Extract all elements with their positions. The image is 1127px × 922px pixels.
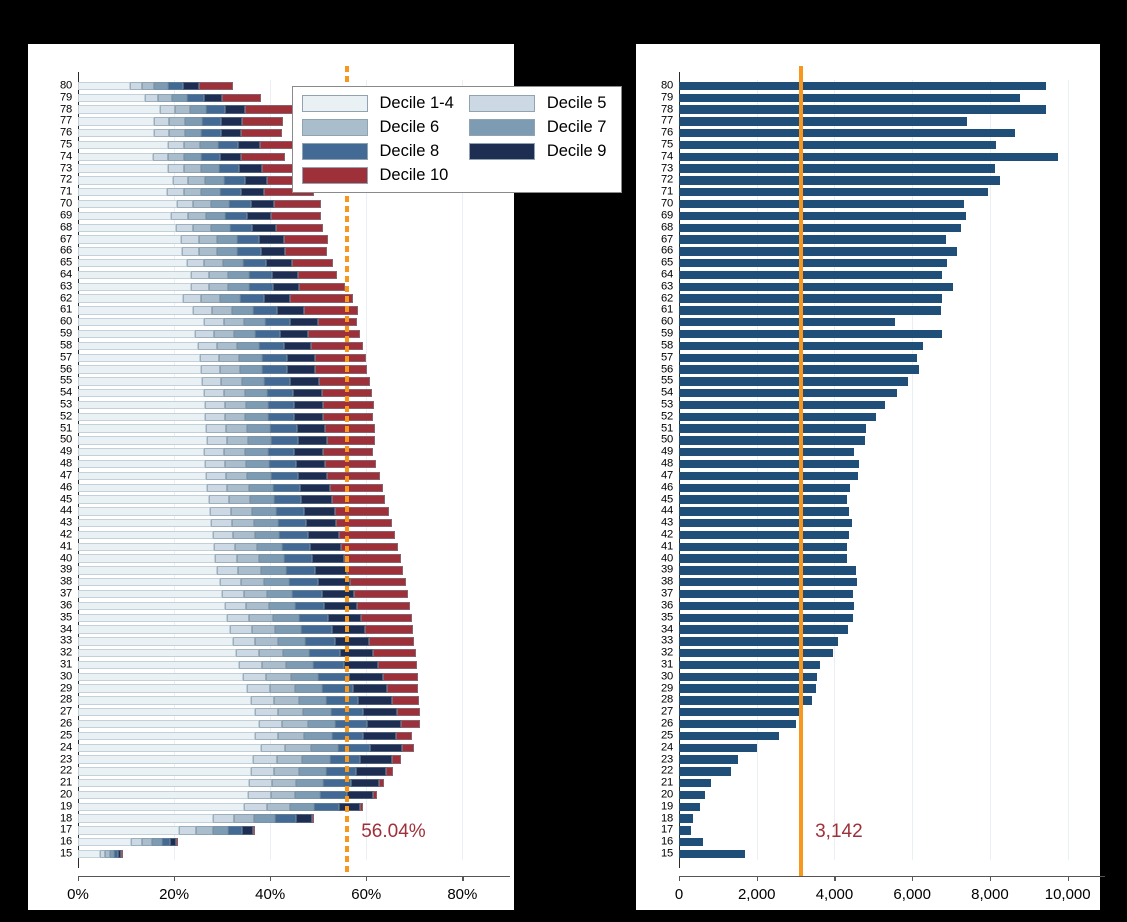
bar-segment — [297, 424, 326, 432]
y-axis-tick-label: 61 — [643, 305, 673, 316]
bar-segment — [78, 767, 251, 775]
bar-segment — [299, 283, 345, 291]
y-axis-tick-label: 63 — [643, 281, 673, 292]
bar-segment — [301, 495, 331, 503]
bar-segment — [206, 105, 225, 113]
bar-segment — [396, 732, 411, 740]
stacked-bar-row — [78, 732, 412, 740]
bar-segment — [229, 200, 251, 208]
bar-segment — [219, 354, 239, 362]
count-bar — [679, 141, 996, 149]
stacked-bar-row — [78, 200, 321, 208]
bar-segment — [326, 696, 357, 704]
x-axis-tick-label: 0 — [675, 886, 683, 903]
y-axis-tick-label: 43 — [643, 518, 673, 529]
y-axis-tick-label: 58 — [42, 340, 72, 351]
bar-segment — [356, 767, 386, 775]
bar-segment — [188, 176, 205, 184]
stacked-bar-row — [78, 826, 255, 834]
right-chart-panel: 02,0004,0006,0008,00010,0008079787776757… — [636, 44, 1100, 910]
bar-segment — [278, 637, 304, 645]
y-axis-tick-label: 18 — [42, 813, 72, 824]
bar-segment — [402, 744, 414, 752]
y-axis-tick-label: 64 — [643, 269, 673, 280]
bar-segment — [269, 460, 296, 468]
bar-segment — [202, 377, 221, 385]
bar-segment — [254, 814, 275, 822]
bar-segment — [183, 82, 199, 90]
x-axis-tick-label: 0% — [67, 886, 89, 903]
y-axis-tick-label: 20 — [643, 789, 673, 800]
x-axis-tick-label: 60% — [351, 886, 381, 903]
bar-segment — [207, 484, 227, 492]
bar-segment — [78, 164, 168, 172]
legend-swatch — [302, 143, 368, 160]
y-axis-tick-label: 23 — [643, 754, 673, 765]
bar-segment — [240, 365, 262, 373]
bar-segment — [392, 696, 419, 704]
stacked-bar-row — [78, 625, 413, 633]
bar-segment — [154, 117, 169, 125]
bar-segment — [255, 531, 279, 539]
bar-segment — [212, 306, 232, 314]
y-axis-tick-label: 47 — [42, 470, 72, 481]
bar-segment — [365, 625, 414, 633]
y-axis-tick-label: 48 — [643, 458, 673, 469]
count-bar — [679, 495, 847, 503]
bar-segment — [360, 755, 391, 763]
bar-segment — [78, 448, 204, 456]
stacked-bar-row — [78, 235, 328, 243]
bar-segment — [221, 129, 242, 137]
bar-segment — [285, 744, 310, 752]
bar-segment — [273, 283, 299, 291]
bar-segment — [271, 436, 297, 444]
bar-segment — [259, 554, 284, 562]
count-bar — [679, 413, 876, 421]
bar-segment — [78, 543, 214, 551]
bar-segment — [251, 696, 274, 704]
bar-segment — [286, 566, 315, 574]
y-axis-tick-label: 59 — [643, 328, 673, 339]
bar-segment — [158, 94, 172, 102]
bar-segment — [261, 247, 286, 255]
y-axis-tick-label: 56 — [42, 364, 72, 375]
bar-segment — [249, 779, 272, 787]
y-axis-tick-label: 79 — [643, 92, 673, 103]
bar-segment — [274, 696, 299, 704]
bar-segment — [282, 720, 307, 728]
bar-segment — [253, 755, 277, 763]
y-axis-tick-label: 35 — [42, 612, 72, 623]
legend-swatch — [469, 95, 535, 112]
bar-segment — [78, 566, 217, 574]
bar-segment — [312, 814, 314, 822]
x-axis-tick-label: 6,000 — [893, 886, 931, 903]
bar-segment — [220, 188, 242, 196]
bar-segment — [296, 460, 325, 468]
y-axis-tick-label: 18 — [643, 813, 673, 824]
bar-segment — [262, 661, 286, 669]
bar-segment — [387, 684, 418, 692]
stacked-bar-row — [78, 153, 285, 161]
bar-segment — [271, 212, 320, 220]
bar-segment — [350, 578, 406, 586]
stacked-bar-row — [78, 283, 345, 291]
bar-segment — [211, 519, 232, 527]
count-bar — [679, 224, 961, 232]
count-bar — [679, 164, 995, 172]
y-axis-tick-label: 49 — [42, 447, 72, 458]
count-bar — [679, 755, 738, 763]
count-bar — [679, 259, 947, 267]
count-bar — [679, 578, 857, 586]
bar-segment — [232, 519, 254, 527]
legend-swatch — [302, 119, 368, 136]
bar-segment — [254, 519, 278, 527]
stacked-bar-row — [78, 484, 383, 492]
bar-segment — [241, 153, 285, 161]
count-bar — [679, 460, 859, 468]
y-axis-tick-label: 29 — [643, 683, 673, 694]
y-axis-tick-label: 19 — [643, 801, 673, 812]
reference-line-label: 56.04% — [361, 821, 425, 843]
bar-segment — [327, 472, 380, 480]
stacked-bar-row — [78, 401, 374, 409]
bar-segment — [160, 105, 174, 113]
bar-segment — [167, 188, 183, 196]
bar-segment — [214, 330, 234, 338]
bar-segment — [312, 554, 344, 562]
bar-segment — [205, 176, 223, 184]
y-axis-tick-label: 68 — [42, 222, 72, 233]
count-bar — [679, 814, 693, 822]
bar-segment — [327, 436, 376, 444]
y-axis-tick-label: 62 — [42, 293, 72, 304]
bar-segment — [152, 838, 162, 846]
bar-segment — [251, 767, 275, 775]
y-axis-tick-label: 45 — [42, 494, 72, 505]
bar-segment — [265, 318, 290, 326]
bar-segment — [222, 94, 261, 102]
y-axis-tick-label: 24 — [42, 742, 72, 753]
bar-segment — [295, 684, 322, 692]
y-axis-tick-label: 31 — [42, 659, 72, 670]
bar-segment — [279, 531, 307, 539]
y-axis-tick-label: 76 — [643, 128, 673, 139]
bar-segment — [347, 566, 403, 574]
x-axis-tick-label: 2,000 — [738, 886, 776, 903]
bar-segment — [363, 708, 397, 716]
y-axis-tick-label: 65 — [643, 258, 673, 269]
bar-segment — [292, 590, 321, 598]
bar-segment — [228, 826, 242, 834]
stacked-bar-row — [78, 306, 358, 314]
bar-segment — [249, 271, 273, 279]
stacked-bar-row — [78, 259, 333, 267]
bar-segment — [225, 602, 247, 610]
bar-segment — [168, 141, 183, 149]
bar-segment — [244, 803, 267, 811]
y-axis-tick-label: 17 — [643, 825, 673, 836]
y-axis-tick-label: 37 — [42, 588, 72, 599]
bar-segment — [269, 602, 294, 610]
y-axis-tick-label: 15 — [643, 848, 673, 859]
bar-segment — [249, 283, 273, 291]
bar-segment — [211, 224, 230, 232]
count-bar — [679, 803, 700, 811]
y-axis-tick-label: 15 — [42, 848, 72, 859]
bar-segment — [322, 590, 355, 598]
bar-segment — [247, 424, 270, 432]
stacked-bar-row — [78, 649, 416, 657]
bar-segment — [78, 519, 211, 527]
bar-segment — [201, 188, 220, 196]
bar-segment — [304, 732, 332, 740]
bar-segment — [298, 271, 337, 279]
stacked-bar-row — [78, 696, 419, 704]
bar-segment — [204, 389, 224, 397]
y-axis-tick-label: 75 — [42, 139, 72, 150]
y-axis-tick-label: 71 — [42, 187, 72, 198]
bar-segment — [308, 330, 361, 338]
count-bar — [679, 590, 853, 598]
bar-segment — [373, 791, 377, 799]
y-axis-tick-label: 27 — [643, 707, 673, 718]
stacked-bar-row — [78, 176, 317, 184]
y-axis-tick-label: 46 — [643, 482, 673, 493]
bar-segment — [330, 484, 383, 492]
bar-segment — [268, 448, 294, 456]
stacked-bar-row — [78, 330, 360, 338]
bar-segment — [275, 814, 296, 822]
bar-segment — [78, 436, 207, 444]
bar-segment — [218, 141, 238, 149]
bar-segment — [184, 188, 201, 196]
bar-segment — [318, 318, 357, 326]
y-axis-tick-label: 16 — [42, 837, 72, 848]
bar-segment — [379, 779, 384, 787]
y-axis-tick-label: 57 — [643, 352, 673, 363]
bar-segment — [78, 354, 200, 362]
bar-segment — [78, 424, 206, 432]
bar-segment — [227, 484, 249, 492]
bar-segment — [78, 129, 154, 137]
bar-segment — [78, 200, 177, 208]
bar-segment — [209, 283, 228, 291]
bar-segment — [220, 294, 241, 302]
y-axis-tick-label: 68 — [643, 222, 673, 233]
count-bar — [679, 744, 757, 752]
bar-segment — [201, 294, 220, 302]
bar-segment — [78, 661, 239, 669]
bar-segment — [176, 224, 193, 232]
y-axis-tick-label: 27 — [42, 707, 72, 718]
bar-segment — [234, 814, 255, 822]
y-axis-tick-label: 61 — [42, 305, 72, 316]
bar-segment — [360, 803, 363, 811]
y-axis-tick-label: 52 — [42, 411, 72, 422]
bar-segment — [283, 649, 309, 657]
count-bar — [679, 625, 848, 633]
reference-line-label: 3,142 — [815, 821, 863, 843]
bar-segment — [236, 649, 259, 657]
bar-segment — [298, 472, 328, 480]
bar-segment — [168, 82, 183, 90]
y-axis-tick-label: 53 — [643, 399, 673, 410]
y-axis-tick-label: 74 — [42, 151, 72, 162]
bar-segment — [313, 661, 344, 669]
bar-segment — [274, 200, 320, 208]
bar-segment — [78, 625, 230, 633]
bar-segment — [296, 779, 322, 787]
bar-segment — [237, 554, 260, 562]
bar-segment — [341, 543, 398, 551]
bar-segment — [274, 495, 301, 503]
bar-segment — [206, 424, 226, 432]
stacked-bar-row — [78, 247, 327, 255]
bar-segment — [276, 224, 323, 232]
y-axis-tick-label: 70 — [42, 198, 72, 209]
count-bar — [679, 176, 1000, 184]
bar-segment — [277, 306, 304, 314]
bar-segment — [78, 507, 210, 515]
bar-segment — [78, 708, 255, 716]
bar-segment — [78, 247, 182, 255]
bar-segment — [242, 117, 283, 125]
bar-segment — [210, 507, 231, 515]
stacked-bar-row — [78, 318, 357, 326]
bar-segment — [264, 578, 289, 586]
bar-segment — [249, 484, 273, 492]
bar-segment — [154, 129, 169, 137]
bar-segment — [224, 389, 245, 397]
bar-segment — [225, 212, 247, 220]
bar-segment — [285, 247, 327, 255]
bar-segment — [206, 212, 225, 220]
bar-segment — [239, 661, 262, 669]
bar-segment — [78, 318, 204, 326]
stacked-bar-row — [78, 614, 412, 622]
stacked-bar-row — [78, 105, 293, 113]
y-axis-tick-label: 67 — [643, 234, 673, 245]
stacked-bar-row — [78, 224, 323, 232]
count-bar — [679, 554, 847, 562]
bar-segment — [250, 495, 274, 503]
y-axis-tick-label: 54 — [643, 388, 673, 399]
bar-segment — [179, 826, 196, 834]
y-axis-tick-label: 58 — [643, 340, 673, 351]
bar-segment — [320, 791, 347, 799]
bar-segment — [201, 153, 220, 161]
bar-segment — [217, 235, 237, 243]
bar-segment — [234, 330, 256, 338]
y-axis-tick-label: 65 — [42, 258, 72, 269]
stacked-bar-row — [78, 566, 403, 574]
count-bar — [679, 105, 1046, 113]
bar-segment — [274, 767, 299, 775]
bar-segment — [78, 212, 171, 220]
bar-segment — [220, 578, 242, 586]
bar-segment — [198, 342, 217, 350]
bar-segment — [200, 354, 219, 362]
y-axis-tick-label: 78 — [42, 104, 72, 115]
bar-segment — [295, 791, 320, 799]
y-axis-tick-label: 69 — [643, 210, 673, 221]
bar-segment — [294, 401, 323, 409]
bar-segment — [199, 235, 217, 243]
bar-segment — [195, 330, 214, 338]
bar-segment — [246, 460, 269, 468]
count-bar — [679, 720, 796, 728]
bar-segment — [169, 117, 185, 125]
bar-segment — [78, 720, 259, 728]
y-axis-tick-label: 30 — [643, 671, 673, 682]
bar-segment — [78, 342, 198, 350]
bar-segment — [278, 732, 303, 740]
y-axis-tick-label: 33 — [643, 636, 673, 647]
x-axis-tick-label: 80% — [447, 886, 477, 903]
y-axis-tick-label: 62 — [643, 293, 673, 304]
decile-legend: Decile 1-4Decile 5Decile 6Decile 7Decile… — [292, 86, 622, 193]
y-axis-tick-label: 50 — [643, 435, 673, 446]
bar-segment — [293, 389, 321, 397]
bar-segment — [78, 153, 153, 161]
bar-segment — [193, 200, 210, 208]
count-bar — [679, 519, 852, 527]
count-bar — [679, 212, 966, 220]
bar-segment — [188, 212, 206, 220]
count-bar — [679, 330, 942, 338]
bar-segment — [78, 484, 207, 492]
count-bar — [679, 271, 942, 279]
stacked-bar-row — [78, 554, 401, 562]
legend-label: Decile 7 — [547, 118, 612, 137]
bar-segment — [247, 212, 271, 220]
bar-segment — [262, 365, 287, 373]
count-bar — [679, 732, 779, 740]
bar-segment — [363, 732, 396, 740]
count-bar — [679, 673, 817, 681]
bar-segment — [233, 637, 255, 645]
stacked-bar-row — [78, 377, 370, 385]
y-axis-tick-label: 57 — [42, 352, 72, 363]
bar-segment — [222, 590, 244, 598]
bar-segment — [121, 850, 123, 858]
bar-segment — [287, 365, 315, 373]
y-axis-tick-label: 20 — [42, 789, 72, 800]
y-axis-tick-label: 51 — [643, 423, 673, 434]
bar-segment — [252, 625, 276, 633]
legend-label: Decile 1-4 — [380, 94, 460, 113]
y-axis-tick-label: 56 — [643, 364, 673, 375]
stacked-bar-row — [78, 365, 367, 373]
stacked-bar-row — [78, 779, 384, 787]
legend-swatch — [302, 167, 368, 184]
bar-segment — [219, 164, 240, 172]
count-bar — [679, 424, 866, 432]
bar-segment — [243, 673, 266, 681]
y-axis-tick-label: 21 — [42, 778, 72, 789]
stacked-bar-row — [78, 294, 353, 302]
bar-segment — [154, 82, 167, 90]
bar-segment — [162, 838, 171, 846]
bar-segment — [184, 164, 201, 172]
bar-segment — [78, 838, 131, 846]
bar-segment — [78, 779, 249, 787]
bar-segment — [184, 141, 200, 149]
bar-segment — [261, 744, 285, 752]
